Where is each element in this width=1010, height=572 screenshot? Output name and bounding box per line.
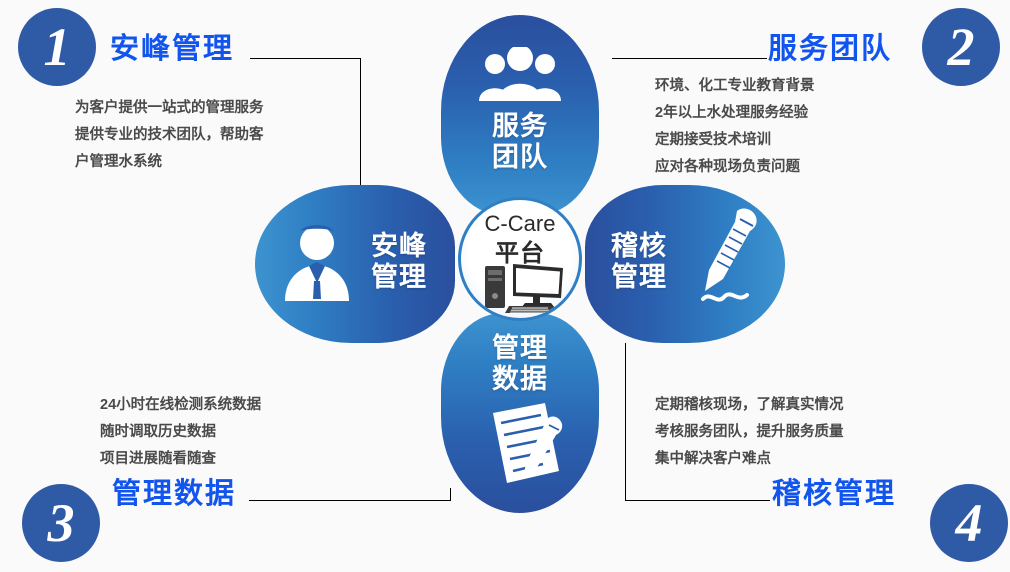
quadrant-3-description: 24小时在线检测系统数据随时调取历史数据项目进展随看随查 (100, 392, 261, 473)
description-line: 24小时在线检测系统数据 (100, 392, 261, 419)
petal-label-audit-management: 稽核 管理 (599, 231, 679, 293)
petal-management-data[interactable]: 管理 数据 (441, 313, 599, 513)
center-hub[interactable]: C-Care 平台 (458, 197, 582, 321)
quadrant-4-heading: 稽核管理 (772, 470, 896, 512)
pencil-icon (693, 207, 767, 311)
people-group-icon (475, 47, 565, 101)
petal-label-management-data: 管理 数据 (441, 333, 599, 395)
petal-service-team[interactable]: 服务 团队 (441, 15, 599, 215)
description-line: 户管理水系统 (75, 149, 264, 176)
description-line: 提供专业的技术团队，帮助客 (75, 122, 264, 149)
petal-audit-management[interactable]: 稽核 管理 (585, 185, 785, 343)
number-badge-2: 2 (922, 8, 1000, 86)
desktop-computer-icon (483, 262, 565, 314)
number-badge-1: 1 (18, 8, 96, 86)
quadrant-1-description: 为客户提供一站式的管理服务提供专业的技术团队，帮助客户管理水系统 (75, 95, 264, 176)
infographic-canvas: 1 2 3 4 安峰管理 服务团队 管理数据 稽核管理 为客户提供一站式的管理服… (0, 0, 1010, 572)
number-badge-4: 4 (930, 484, 1008, 562)
description-line: 随时调取历史数据 (100, 419, 261, 446)
description-line: 项目进展随看随查 (100, 446, 261, 473)
petal-label-anfeng-management: 安峰 管理 (359, 231, 439, 293)
flower-diagram: 服务 团队 稽核 管理 (255, 15, 785, 525)
description-line: 为客户提供一站式的管理服务 (75, 95, 264, 122)
quadrant-1-heading: 安峰管理 (110, 25, 234, 67)
number-badge-3: 3 (22, 484, 100, 562)
quadrant-3-heading: 管理数据 (112, 470, 236, 512)
businessman-icon (281, 221, 353, 301)
petal-anfeng-management[interactable]: 安峰 管理 (255, 185, 455, 343)
quadrant-2-heading: 服务团队 (768, 25, 892, 67)
clipboard-pencil-icon (485, 397, 571, 489)
petal-label-service-team: 服务 团队 (441, 111, 599, 173)
